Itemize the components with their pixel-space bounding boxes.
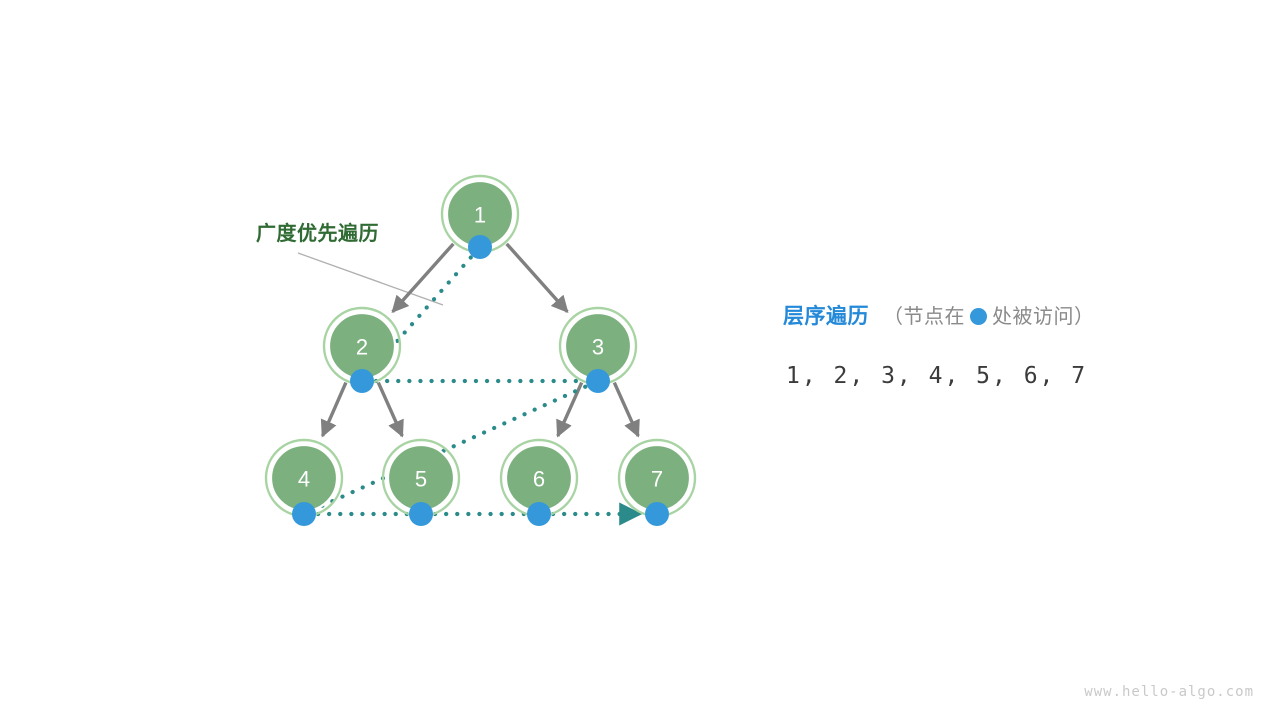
node-value-label: 5 (415, 467, 427, 492)
legend-note-after: 处被访问） (992, 306, 1095, 328)
visit-marker[interactable] (645, 502, 669, 526)
diagram-canvas: 1234567 广度优先遍历 层序遍历（节点在处被访问） 1, 2, 3, 4,… (0, 0, 1280, 720)
visit-marker-icon (970, 308, 987, 325)
visit-marker[interactable] (527, 502, 551, 526)
node-value-label: 7 (651, 467, 663, 492)
legend-title: 层序遍历 (783, 305, 869, 328)
node-value-label: 6 (533, 467, 545, 492)
visit-marker[interactable] (468, 235, 492, 259)
site-watermark: www.hello-algo.com (1084, 684, 1254, 700)
traversal-sequence-text: 1, 2, 3, 4, 5, 6, 7 (786, 363, 1087, 389)
tree-edge (323, 383, 346, 436)
legend-block: 层序遍历（节点在处被访问） (783, 300, 1095, 330)
tree-edge (378, 383, 402, 436)
visit-marker[interactable] (350, 369, 374, 393)
node-value-label: 1 (474, 203, 486, 228)
visit-marker[interactable] (292, 502, 316, 526)
tree-edge (393, 244, 454, 312)
node-value-label: 4 (298, 467, 310, 492)
tree-edge (614, 383, 638, 436)
binary-tree-svg: 1234567 (0, 0, 1280, 720)
tree-edge (558, 383, 582, 436)
node-value-label: 2 (356, 335, 368, 360)
visit-marker[interactable] (409, 502, 433, 526)
legend-note-before: （节点在 (883, 306, 965, 328)
tree-edge (507, 244, 568, 312)
visit-marker[interactable] (586, 369, 610, 393)
bfs-annotation-label: 广度优先遍历 (256, 217, 379, 246)
node-value-label: 3 (592, 335, 604, 360)
